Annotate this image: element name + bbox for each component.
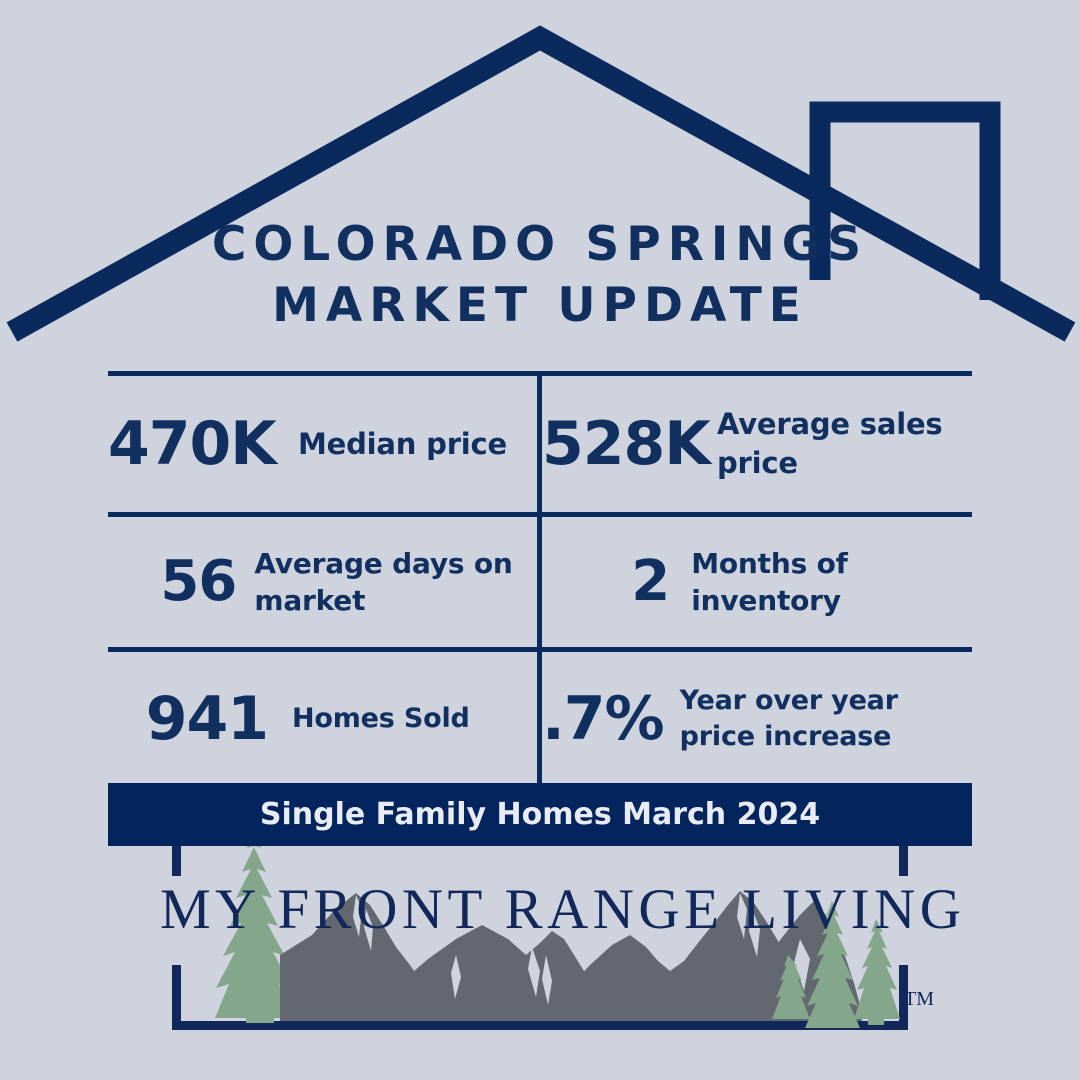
stats-table: 470K Median price 528K Average sales pri…: [108, 371, 972, 785]
stat-cell-year-over-year-price-increase: .7% Year over year price increase: [542, 652, 972, 785]
stat-value: 2: [542, 554, 669, 610]
stat-cell-average-days-on-market: 56 Average days on market: [108, 517, 537, 647]
stat-value: .7%: [542, 689, 664, 749]
stat-label: Average days on market: [236, 545, 537, 619]
stat-value: 470K: [108, 414, 268, 474]
date-banner-label: Single Family Homes March 2024: [260, 797, 820, 832]
stat-value: 941: [108, 689, 268, 749]
stat-cell-average-sales-price: 528K Average sales price: [542, 376, 972, 512]
brand-logo: MY FRONT RANGE LIVING TM: [160, 843, 920, 1043]
stat-cell-homes-sold: 941 Homes Sold: [108, 652, 537, 785]
page-title: COLORADO SPRINGS MARKET UPDATE: [0, 214, 1080, 336]
stat-label: Homes Sold: [268, 701, 470, 737]
stat-cell-months-of-inventory: 2 Months of inventory: [542, 517, 972, 647]
stat-label: Months of inventory: [669, 545, 972, 619]
logo-artwork: [160, 843, 920, 1043]
title-line-2: MARKET UPDATE: [0, 275, 1080, 336]
stat-label: Year over year price increase: [664, 683, 972, 755]
title-line-1: COLORADO SPRINGS: [0, 214, 1080, 275]
stat-value: 56: [108, 554, 236, 610]
stat-cell-median-price: 470K Median price: [108, 376, 537, 512]
infographic-canvas: COLORADO SPRINGS MARKET UPDATE 470K Medi…: [0, 0, 1080, 1080]
logo-wordmark: MY FRONT RANGE LIVING: [160, 881, 920, 938]
stat-label: Average sales price: [689, 405, 972, 482]
date-banner: Single Family Homes March 2024: [108, 783, 972, 846]
stat-value: 528K: [542, 414, 689, 474]
trademark-symbol: TM: [904, 988, 934, 1011]
stat-label: Median price: [268, 425, 507, 464]
